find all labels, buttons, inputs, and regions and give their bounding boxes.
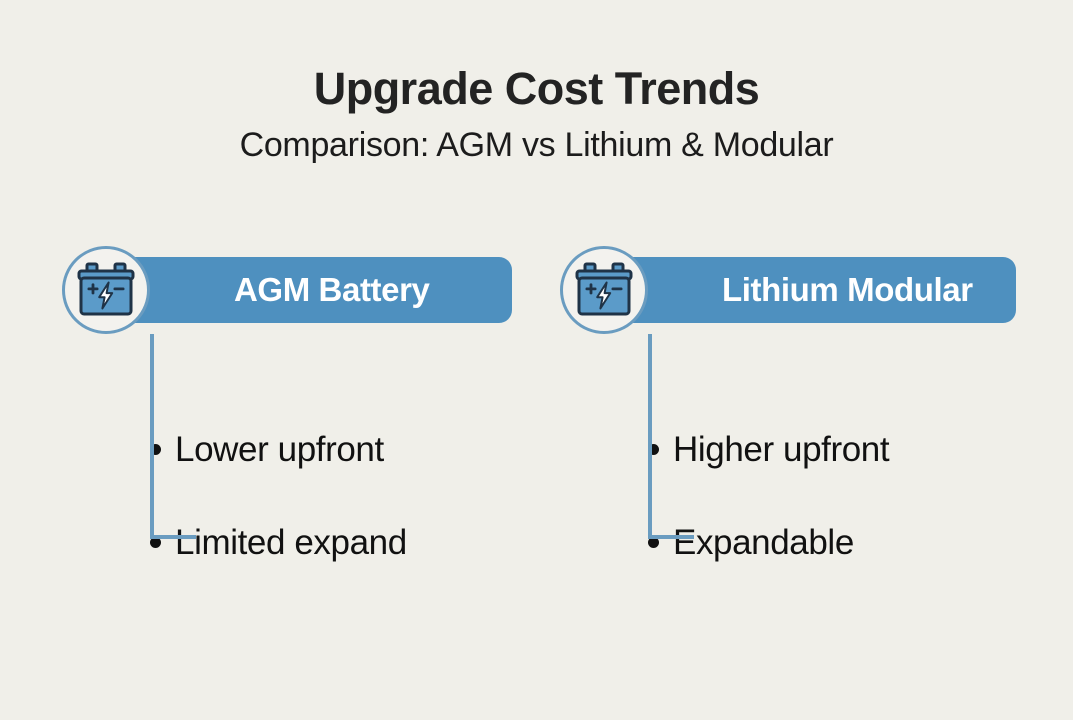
pill-label-lithium-modular: Lithium Modular (722, 271, 973, 309)
battery-icon-badge-lithium-modular (560, 246, 648, 334)
infographic-canvas: Upgrade Cost Trends Comparison: AGM vs L… (0, 0, 1073, 720)
label-pill-agm[interactable]: AGM Battery (108, 257, 512, 323)
bullet-text: Limited expand (175, 525, 407, 560)
bullet-text: Expandable (673, 525, 854, 560)
bullet-text: Lower upfront (175, 432, 384, 467)
battery-icon (573, 261, 635, 319)
page-subtitle: Comparison: AGM vs Lithium & Modular (0, 114, 1073, 164)
header: Upgrade Cost Trends Comparison: AGM vs L… (0, 0, 1073, 164)
connector-line-agm (106, 334, 196, 550)
battery-icon (75, 261, 137, 319)
page-title: Upgrade Cost Trends (0, 0, 1073, 114)
label-pill-lithium-modular[interactable]: Lithium Modular (606, 257, 1016, 323)
connector-line-lithium-modular (604, 334, 694, 550)
battery-icon-badge-agm (62, 246, 150, 334)
pill-label-agm: AGM Battery (234, 271, 429, 309)
bullet-text: Higher upfront (673, 432, 889, 467)
